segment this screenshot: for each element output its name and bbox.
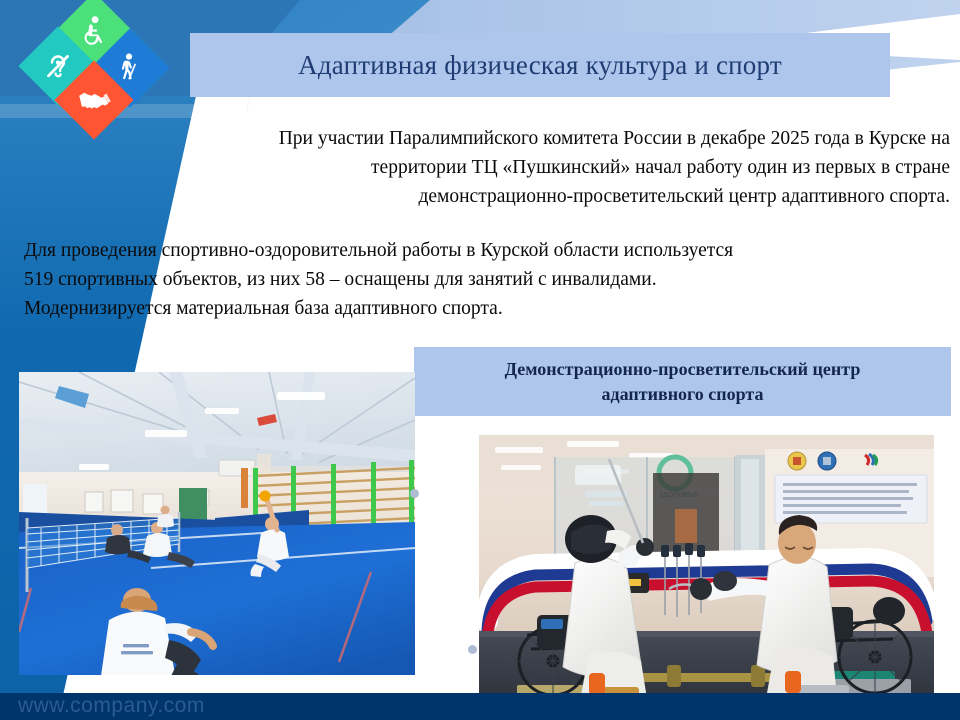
presentation-slide: Адаптивная физическая культура и спорт П… xyxy=(0,0,960,720)
photo-caption-box: Демонстрационно-просветительский центр а… xyxy=(414,347,951,416)
caption-line-1: Демонстрационно-просветительский центр xyxy=(505,357,861,382)
accessibility-logo xyxy=(16,2,171,122)
intro-line-2: территории ТЦ «Пушкинский» начал работу … xyxy=(80,153,950,182)
footer-website-url[interactable]: www.company.com xyxy=(18,694,205,718)
page-title: Адаптивная физическая культура и спорт xyxy=(298,50,782,81)
stats-line-2: 519 спортивных объектов, из них 58 – осн… xyxy=(24,265,934,294)
intro-line-3: демонстрационно-просветительский центр а… xyxy=(80,182,950,211)
intro-paragraph: При участии Паралимпийского комитета Рос… xyxy=(80,124,950,211)
caption-line-2: адаптивного спорта xyxy=(602,382,764,407)
photo-wheelchair-fencing: здоровье xyxy=(479,435,934,703)
decorative-dot-upper xyxy=(410,489,419,498)
slide-title-band: Адаптивная физическая культура и спорт xyxy=(190,33,890,97)
photo-sitting-volleyball xyxy=(19,372,415,675)
intro-line-1: При участии Паралимпийского комитета Рос… xyxy=(80,124,950,153)
stats-line-3: Модернизируется материальная база адапти… xyxy=(24,294,934,323)
statistics-paragraph: Для проведения спортивно-оздоровительной… xyxy=(24,236,934,323)
stats-line-1: Для проведения спортивно-оздоровительной… xyxy=(24,236,934,265)
decorative-dot-lower xyxy=(468,645,477,654)
